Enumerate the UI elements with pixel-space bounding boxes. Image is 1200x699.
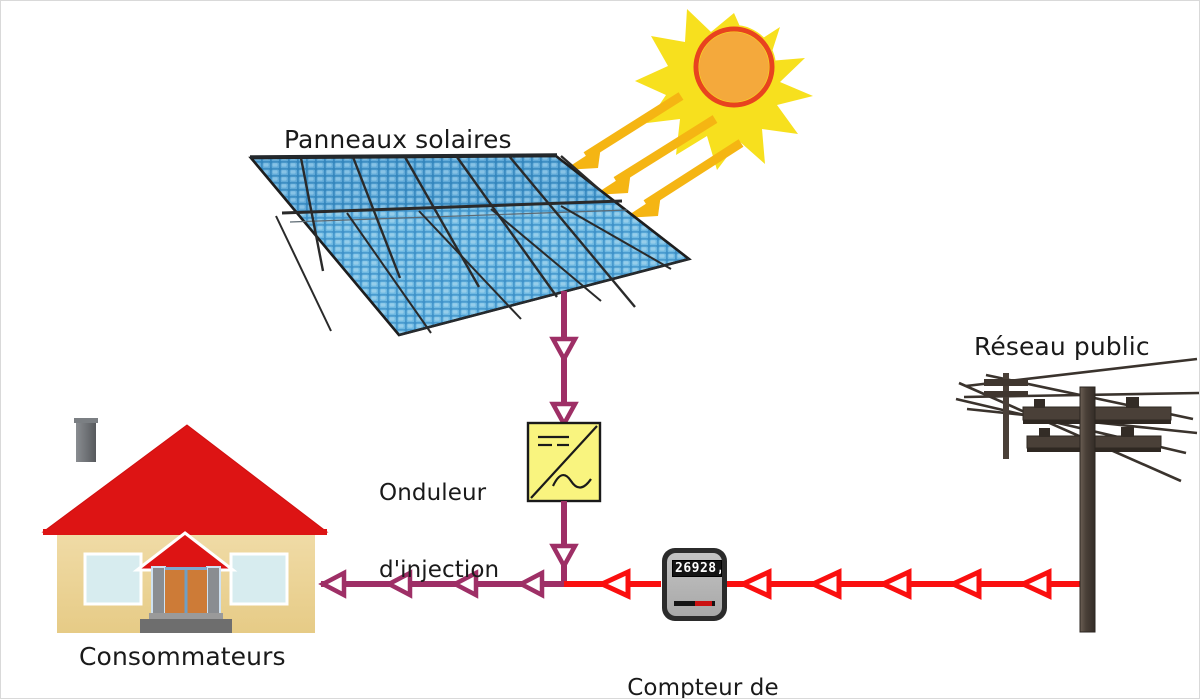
label-meter-line1: Compteur de: [607, 676, 799, 699]
inverter-box: [528, 423, 600, 501]
label-inverter-line1: Onduleur: [379, 481, 499, 507]
label-meter: Compteur de consommation: [607, 624, 799, 699]
dc-line-inverter-to-junction: [553, 501, 575, 584]
meter-reading: 26928,: [673, 561, 722, 576]
label-inverter-line2: d'injection: [379, 558, 499, 584]
label-public-grid: Réseau public: [974, 333, 1150, 361]
electricity-meter: [662, 548, 727, 621]
ac-line-pole-to-meter: [727, 572, 1086, 596]
sun-icon: [635, 9, 813, 170]
label-consumers: Consommateurs: [79, 643, 286, 671]
label-solar-panels: Panneaux solaires: [284, 126, 512, 154]
dc-line-panels-to-inverter: [553, 291, 575, 424]
ac-line-meter-to-junction: [564, 572, 661, 596]
meter-display: 26928,: [672, 560, 722, 577]
house-icon: [43, 418, 327, 633]
utility-pole-icon: [956, 359, 1199, 632]
solar-energy-diagram: Panneaux solaires Onduleur d'injection C…: [0, 0, 1200, 699]
label-inverter: Onduleur d'injection: [379, 429, 499, 635]
